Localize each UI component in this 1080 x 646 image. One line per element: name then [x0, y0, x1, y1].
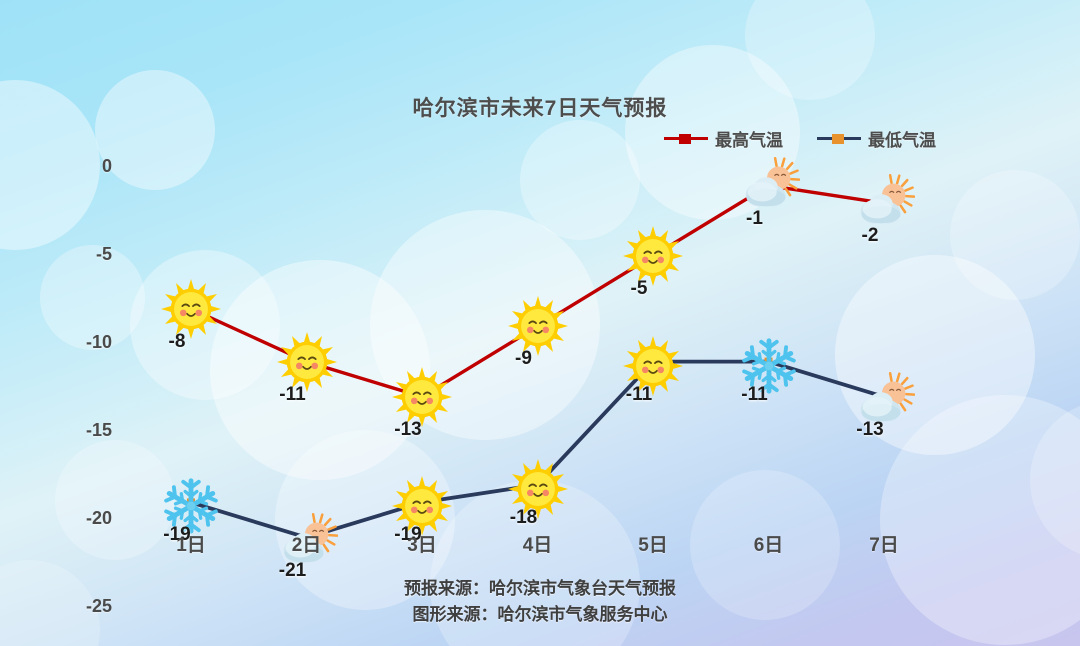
low-temp-value: -18 [484, 507, 564, 529]
high-temp-value: -9 [484, 348, 564, 370]
high-temp-value: -8 [137, 331, 217, 353]
low-temp-value: -11 [715, 384, 795, 406]
x-axis-tick: 6日 [724, 530, 814, 557]
x-axis-tick: 5日 [608, 530, 698, 557]
footer-line-1: 预报来源：哈尔滨市气象台天气预报 [0, 574, 1080, 599]
x-axis-tick: 3日 [377, 530, 467, 557]
x-axis-tick: 7日 [839, 530, 929, 557]
x-axis-tick: 2日 [262, 530, 352, 557]
weather-forecast-chart: 哈尔滨市未来7日天气预报 最高气温 最低气温 0-5-10-15-20-25 [0, 0, 1080, 646]
footer-line-2: 图形来源：哈尔滨市气象服务中心 [0, 600, 1080, 625]
high-temp-value: -5 [599, 278, 679, 300]
high-temp-value: -11 [253, 384, 333, 406]
high-temp-value: -13 [368, 419, 448, 441]
x-axis-tick: 4日 [493, 530, 583, 557]
x-axis-tick: 1日 [146, 530, 236, 557]
low-temp-value: -11 [599, 384, 679, 406]
high-temp-value: -1 [715, 208, 795, 230]
high-temp-value: -2 [830, 225, 910, 247]
low-temp-value: -13 [830, 419, 910, 441]
